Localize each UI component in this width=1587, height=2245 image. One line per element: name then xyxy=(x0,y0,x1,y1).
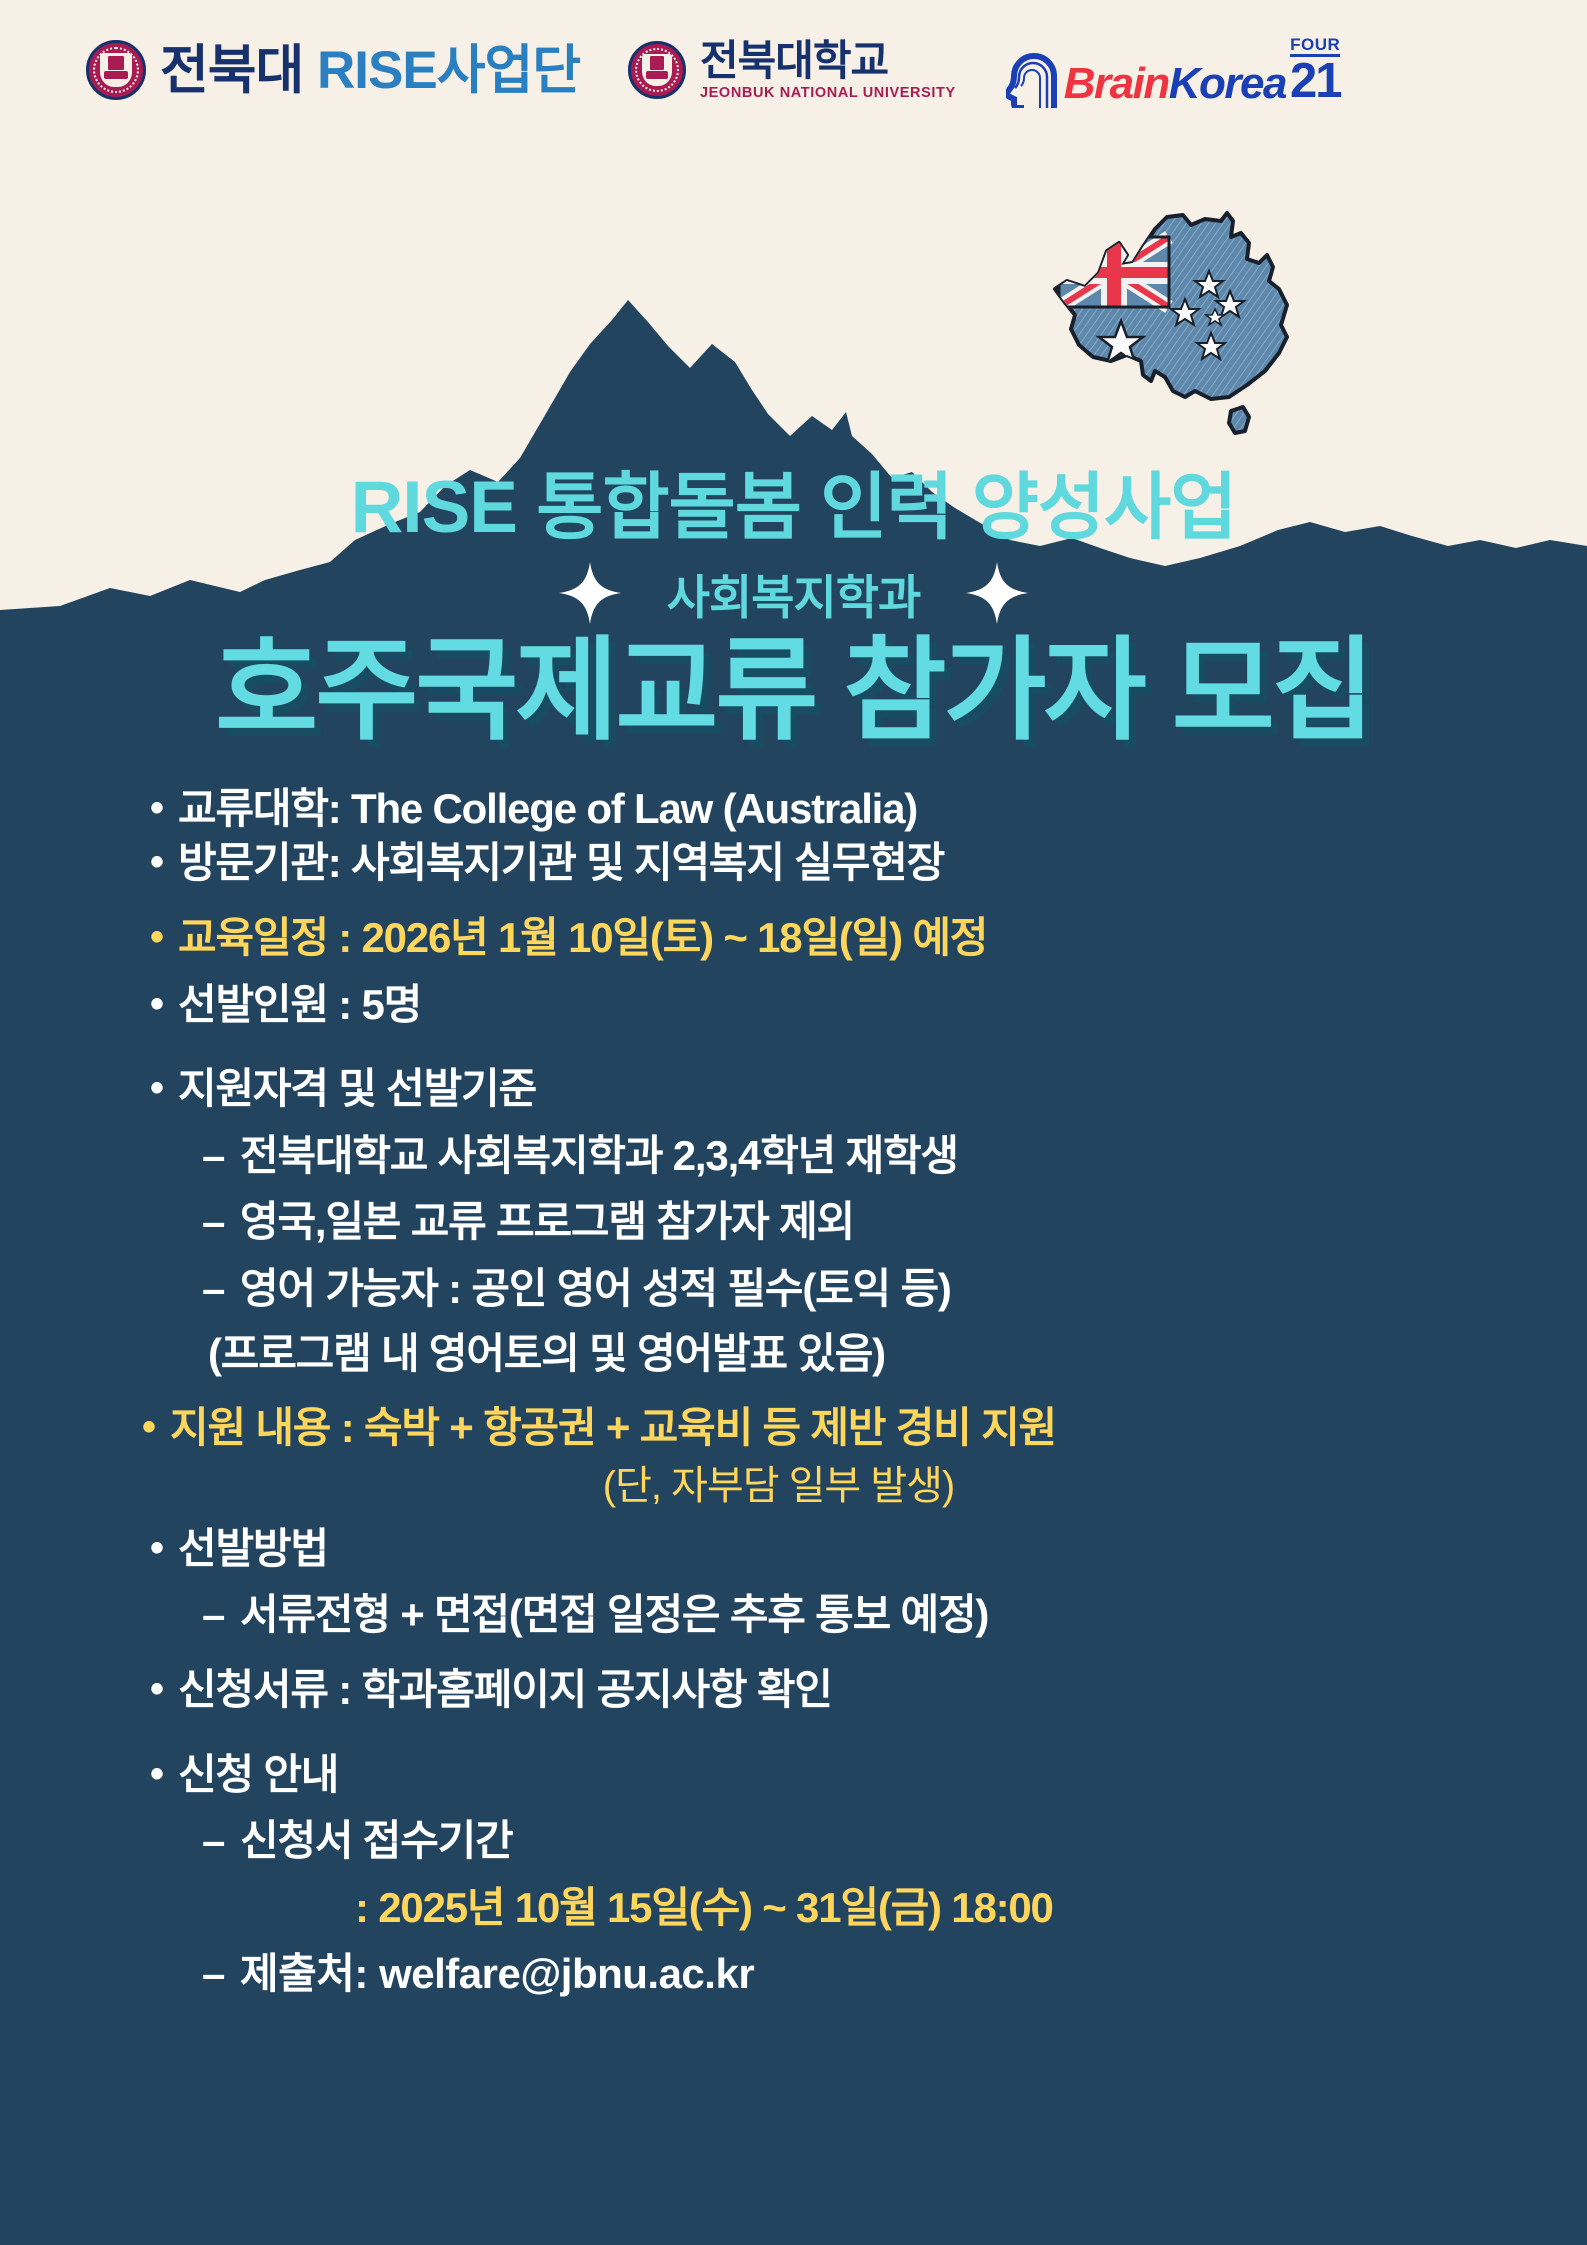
list-item-eligibility-3: – 영어 가능자 : 공인 영어 성적 필수(토익 등) xyxy=(150,1262,1527,1317)
sparkle-icon xyxy=(559,562,621,624)
dash-marker: – xyxy=(202,1947,240,2002)
list-item-application-period-value: : 2025년 10월 15일(수) ~ 31일(금) 18:00 xyxy=(150,1881,1527,1936)
detail-text: 선발방법 xyxy=(178,1522,1527,1577)
detail-text: 전북대학교 사회복지학과 2,3,4학년 재학생 xyxy=(240,1129,1527,1184)
detail-text: 신청서 접수기간 xyxy=(240,1814,1527,1869)
bullet-marker: • xyxy=(150,1522,178,1574)
brain-korea-21-logo: BrainKorea FOUR 21 xyxy=(1006,32,1341,108)
detail-text: 신청 안내 xyxy=(178,1748,1527,1803)
bullet-marker: • xyxy=(142,1401,170,1453)
sparkle-icon xyxy=(966,562,1028,624)
bk21-number-block: FOUR 21 xyxy=(1290,36,1341,106)
dash-marker: – xyxy=(202,1195,240,1250)
list-item-eligibility-3-note: (프로그램 내 영어토의 및 영어발표 있음) xyxy=(150,1327,1527,1382)
list-item-application-period-label: – 신청서 접수기간 xyxy=(150,1814,1527,1869)
brain-head-icon xyxy=(1006,32,1068,108)
jbnu-rise-logo: 전북대 RISE사업단 xyxy=(86,40,580,100)
bullet-marker: • xyxy=(150,836,178,888)
page-title: 호주국제교류 참가자 모집 xyxy=(0,634,1587,748)
jbnu-university-english: JEONBUK NATIONAL UNIVERSITY xyxy=(700,86,956,101)
bullet-marker: • xyxy=(150,1663,178,1715)
brain-word: Brain xyxy=(1064,59,1169,108)
list-item-training-schedule: • 교육일정 : 2026년 1월 10일(토) ~ 18일(일) 예정 xyxy=(150,911,1527,966)
korea-word: Korea xyxy=(1169,59,1286,108)
jbnu-crest-icon xyxy=(86,40,146,100)
list-item-eligibility-1: – 전북대학교 사회복지학과 2,3,4학년 재학생 xyxy=(150,1129,1527,1184)
department-row: 사회복지학과 xyxy=(0,559,1587,628)
jbnu-rise-korean-tail: 사업단 xyxy=(437,41,580,100)
list-item-selection-method-heading: • 선발방법 xyxy=(150,1522,1527,1577)
jbnu-university-text-stack: 전북대학교 JEONBUK NATIONAL UNIVERSITY xyxy=(700,40,956,101)
detail-text: 영어 가능자 : 공인 영어 성적 필수(토익 등) xyxy=(240,1262,1527,1317)
jbnu-crest-icon xyxy=(628,41,686,99)
jbnu-rise-accent: RISE xyxy=(317,41,437,100)
list-item-partner-university: • 교류대학: The College of Law (Australia) xyxy=(150,782,1527,837)
list-item-application-guide-heading: • 신청 안내 xyxy=(150,1748,1527,1803)
list-item-submission-address: – 제출처: welfare@jbnu.ac.kr xyxy=(150,1947,1527,2002)
list-item-application-documents: • 신청서류 : 학과홈페이지 공지사항 확인 xyxy=(150,1663,1527,1718)
detail-text: 방문기관: 사회복지기관 및 지역복지 실무현장 xyxy=(178,836,1527,891)
detail-text: 영국,일본 교류 프로그램 참가자 제외 xyxy=(240,1195,1527,1250)
list-item-selection-method-1: – 서류전형 + 면접(면접 일정은 추후 통보 예정) xyxy=(150,1588,1527,1643)
detail-text: (프로그램 내 영어토의 및 영어발표 있음) xyxy=(208,1327,1527,1382)
detail-text: 서류전형 + 면접(면접 일정은 추후 통보 예정) xyxy=(240,1588,1527,1643)
list-item-selection-count: • 선발인원 : 5명 xyxy=(150,978,1527,1033)
poster-content: RISE 통합돌봄 인력 양성사업 사회복지학과 호주국제교류 참가자 모집 •… xyxy=(0,470,1587,2002)
jbnu-rise-korean: 전북대 xyxy=(160,41,303,100)
dash-marker: – xyxy=(202,1588,240,1643)
bullet-marker: • xyxy=(150,978,178,1030)
list-item-eligibility-2: – 영국,일본 교류 프로그램 참가자 제외 xyxy=(150,1195,1527,1250)
detail-text: 선발인원 : 5명 xyxy=(178,978,1527,1033)
program-title: RISE 통합돌봄 인력 양성사업 xyxy=(0,470,1587,547)
details-list: • 교류대학: The College of Law (Australia) •… xyxy=(0,782,1587,2002)
jbnu-university-logo: 전북대학교 JEONBUK NATIONAL UNIVERSITY xyxy=(628,40,956,101)
jbnu-rise-logo-text: 전북대 RISE사업단 xyxy=(160,44,580,97)
list-item-eligibility-heading: • 지원자격 및 선발기준 xyxy=(150,1062,1527,1117)
detail-text: 교류대학: The College of Law (Australia) xyxy=(178,782,1527,837)
header-logo-bar: 전북대 RISE사업단 전북대학교 JEONBUK NATIONAL UNIVE… xyxy=(0,0,1587,140)
title-block: RISE 통합돌봄 인력 양성사업 사회복지학과 호주국제교류 참가자 모집 xyxy=(0,470,1587,748)
dash-marker: – xyxy=(202,1129,240,1184)
brain-korea-wordmark: BrainKorea xyxy=(1064,62,1286,106)
dash-marker: – xyxy=(202,1262,240,1317)
list-item-visit-institutions: • 방문기관: 사회복지기관 및 지역복지 실무현장 xyxy=(150,836,1527,891)
department-name: 사회복지학과 xyxy=(667,559,920,628)
detail-text: : 2025년 10월 15일(수) ~ 31일(금) 18:00 xyxy=(355,1881,1527,1936)
detail-text: 지원 내용 : 숙박 + 항공권 + 교육비 등 제반 경비 지원 xyxy=(170,1401,1527,1456)
bullet-marker: • xyxy=(150,782,178,834)
bk21-number: 21 xyxy=(1290,57,1341,106)
detail-text: 신청서류 : 학과홈페이지 공지사항 확인 xyxy=(178,1663,1527,1718)
bullet-marker: • xyxy=(150,1748,178,1800)
australia-map-flag-icon xyxy=(1015,185,1325,460)
submission-email: 제출처: welfare@jbnu.ac.kr xyxy=(240,1947,1527,2002)
jbnu-university-korean: 전북대학교 xyxy=(700,40,956,82)
dash-marker: – xyxy=(202,1814,240,1869)
detail-text: 지원자격 및 선발기준 xyxy=(178,1062,1527,1117)
support-note: (단, 자부담 일부 발생) xyxy=(150,1462,1527,1510)
list-item-support-content: • 지원 내용 : 숙박 + 항공권 + 교육비 등 제반 경비 지원 xyxy=(142,1401,1527,1456)
bullet-marker: • xyxy=(150,911,178,963)
bullet-marker: • xyxy=(150,1062,178,1114)
detail-text: 교육일정 : 2026년 1월 10일(토) ~ 18일(일) 예정 xyxy=(178,911,1527,966)
